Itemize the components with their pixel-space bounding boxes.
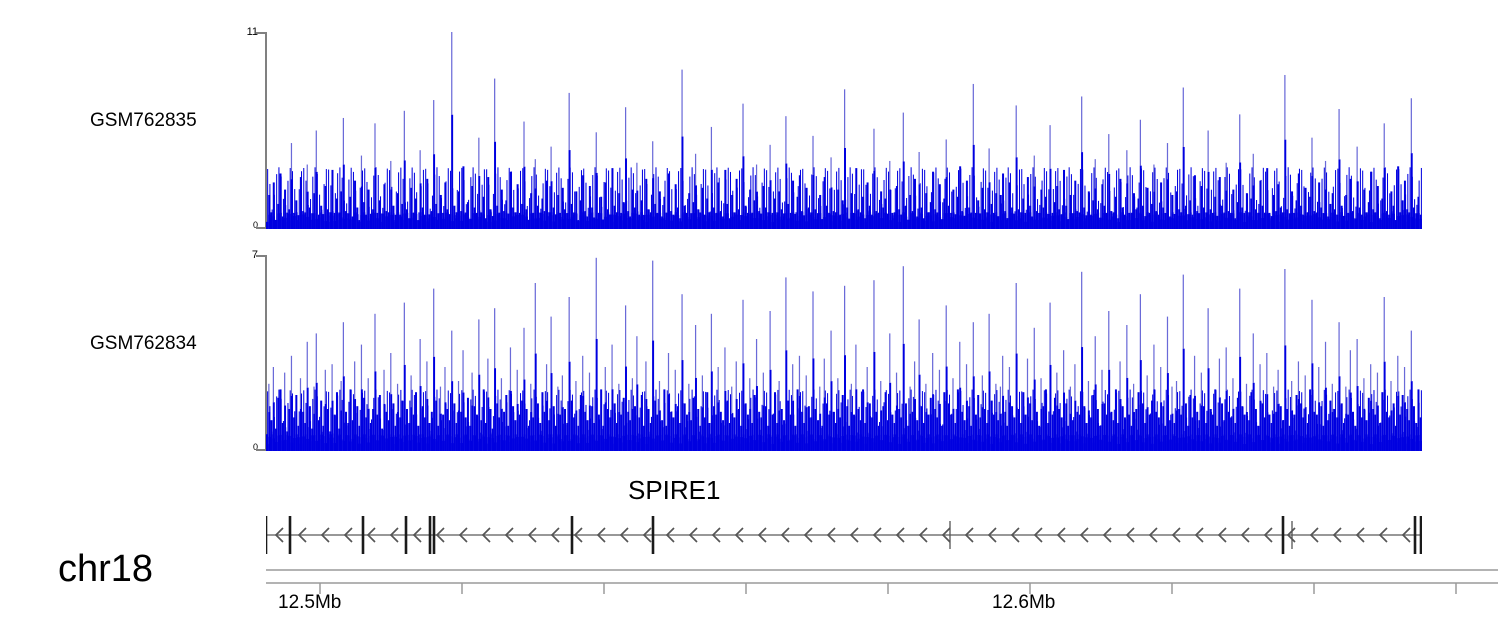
track1-ymin-tick [256, 227, 266, 229]
data-track-gsm762834 [266, 255, 1422, 451]
ruler-tick-label-left: 12.5Mb [278, 592, 341, 614]
gene-model-track[interactable] [266, 505, 1422, 560]
track-label-gsm762835: GSM762835 [90, 110, 197, 132]
track2-ymin-label: 0 [224, 442, 258, 452]
chromosome-label: chr18 [58, 548, 153, 591]
track1-ymax-tick [256, 32, 266, 34]
genome-browser-view: GSM762835 11 0 GSM762834 7 0 SPIRE1 12.5… [0, 0, 1500, 640]
track1-plot [266, 32, 1422, 229]
gene-model-plot [266, 505, 1422, 560]
track2-ymax-tick [256, 255, 266, 257]
ruler-tick-label-right: 12.6Mb [992, 592, 1055, 614]
gene-label-spire1[interactable]: SPIRE1 [628, 475, 721, 506]
track1-ymin-label: 0 [224, 220, 258, 230]
track-label-gsm762834: GSM762834 [90, 333, 197, 355]
ruler-plot [260, 566, 1500, 596]
coordinate-ruler [260, 566, 1500, 596]
track2-ymax-label: 7 [224, 249, 258, 261]
track2-ymin-tick [256, 449, 266, 451]
track1-ymax-label: 11 [224, 26, 258, 38]
data-track-gsm762835 [266, 32, 1422, 229]
track2-plot [266, 255, 1422, 451]
